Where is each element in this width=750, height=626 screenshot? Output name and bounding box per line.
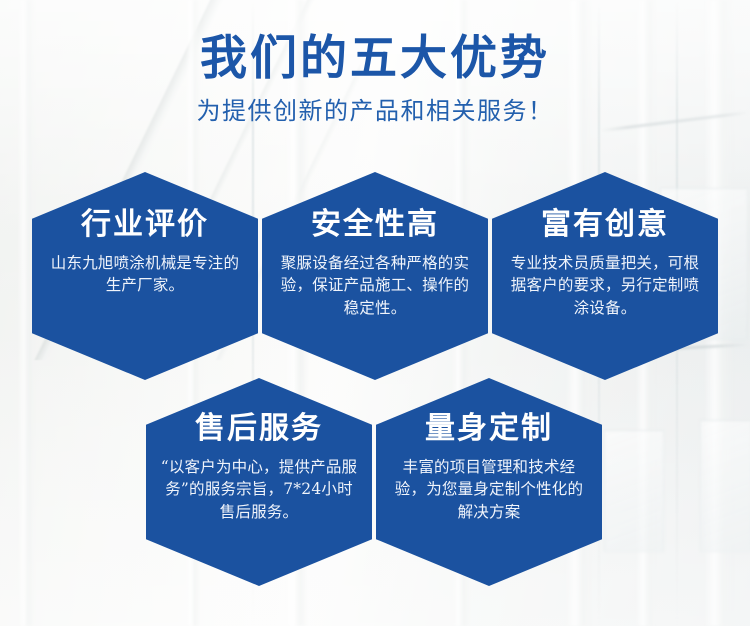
advantage-title: 安全性高 (311, 210, 439, 240)
advantage-title: 量身定制 (425, 414, 553, 444)
advantage-title: 售后服务 (195, 414, 323, 444)
advantage-body: 丰富的项目管理和技术经验，为您量身定制个性化的解决方案 (384, 456, 594, 523)
advantage-title: 行业评价 (81, 210, 209, 240)
advantage-title: 富有创意 (541, 210, 669, 240)
advantages-banner: 我们的五大优势 为提供创新的产品和相关服务！ 行业评价 山东九旭喷涂机械是专注的… (0, 0, 750, 626)
page-subtitle: 为提供创新的产品和相关服务！ (0, 97, 750, 126)
advantage-body: 山东九旭喷涂机械是专注的生产厂家。 (40, 252, 250, 297)
banner-header: 我们的五大优势 为提供创新的产品和相关服务！ (0, 34, 750, 126)
advantage-body: “以客户为中心，提供产品服务”的服务宗旨，7*24小时售后服务。 (154, 456, 364, 523)
advantage-body: 聚脲设备经过各种严格的实验，保证产品施工、操作的稳定性。 (270, 252, 480, 319)
page-title: 我们的五大优势 (0, 34, 750, 85)
advantage-body: 专业技术员质量把关，可根据客户的要求，另行定制喷涂设备。 (500, 252, 710, 319)
